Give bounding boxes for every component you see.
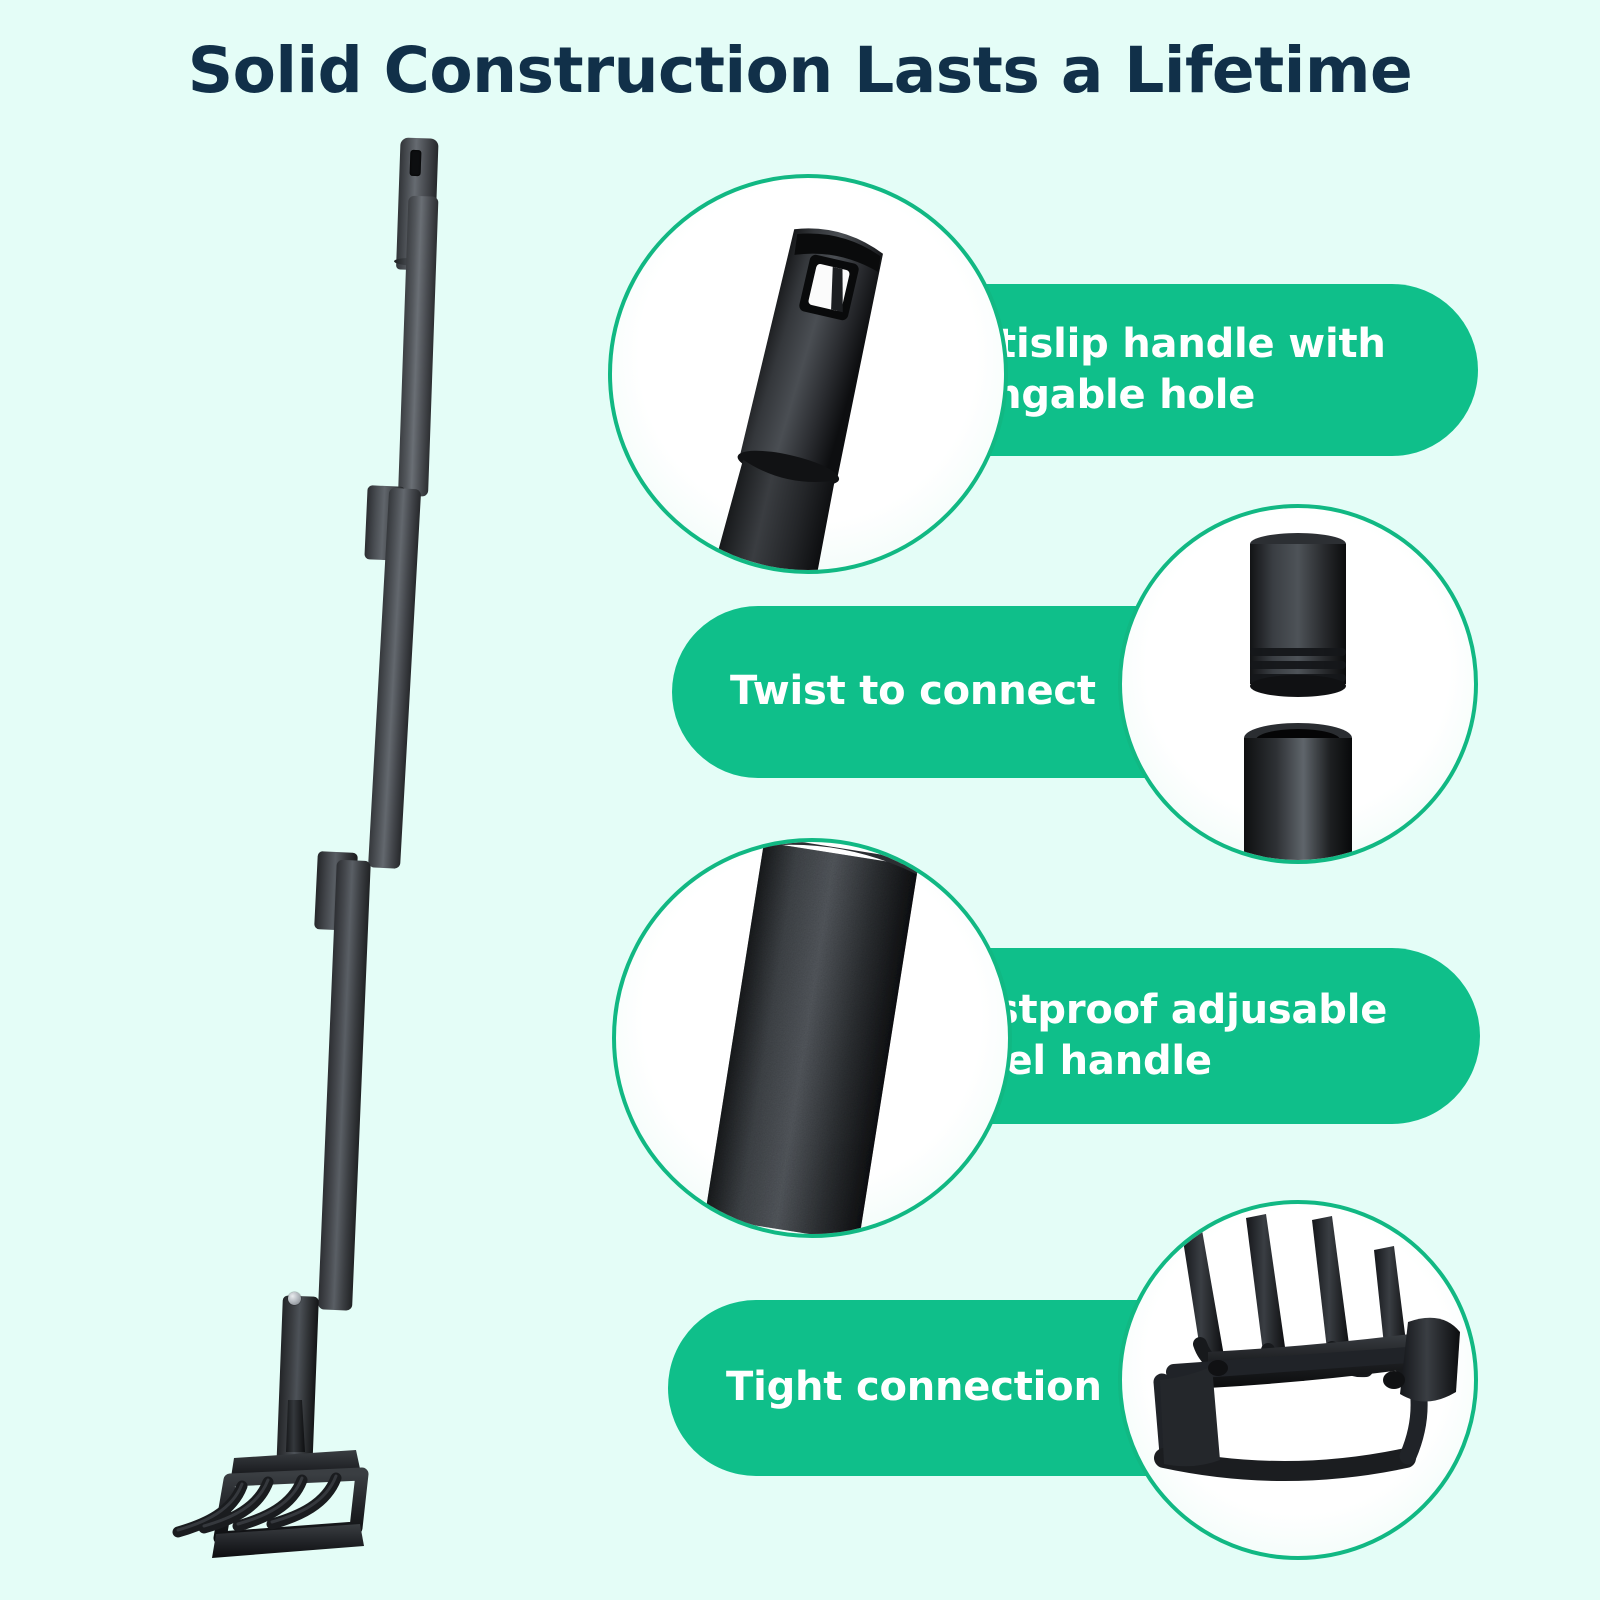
handle-cap-icon	[612, 178, 1004, 570]
callout-label-4: Tight connection	[726, 1362, 1102, 1413]
infographic-canvas: Solid Construction Lasts a Lifetime	[0, 0, 1600, 1600]
steel-tube-icon	[616, 842, 1008, 1234]
callout-photo-4[interactable]	[1118, 1200, 1478, 1560]
hoe-head	[150, 1400, 450, 1590]
callout-label-2: Twist to connect	[730, 666, 1096, 717]
hero-product-image	[0, 0, 560, 1600]
hoe-head-icon	[150, 1400, 450, 1590]
rivet-icon	[288, 1292, 301, 1305]
twist-connector-icon	[1122, 508, 1474, 860]
callout-photo-1[interactable]	[608, 174, 1008, 574]
hangable-hole-icon	[410, 150, 422, 176]
hoe-head-icon	[1122, 1204, 1474, 1556]
callout-photo-2[interactable]	[1118, 504, 1478, 864]
callout-photo-3[interactable]	[612, 838, 1012, 1238]
callout-label-1: Antislip handle with hangable hole	[938, 319, 1432, 421]
